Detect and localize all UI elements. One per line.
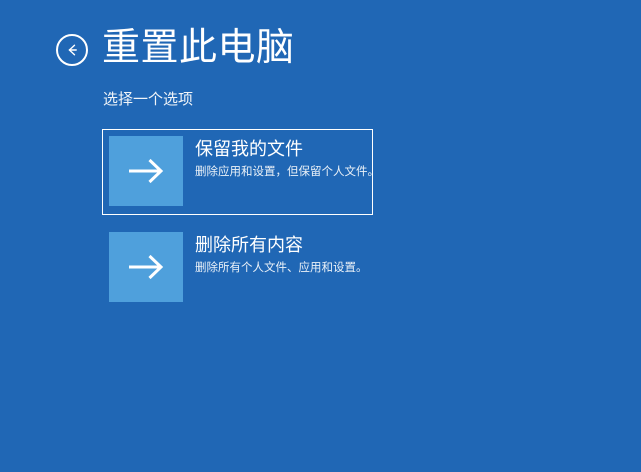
right-arrow-icon: [126, 157, 166, 185]
recovery-screen: 重置此电脑 选择一个选项 保留我的文件 删除应用和设置，但保留个人文件。: [0, 0, 641, 472]
option-tile: [109, 136, 183, 206]
right-arrow-icon: [126, 253, 166, 281]
option-text: 保留我的文件 删除应用和设置，但保留个人文件。: [195, 136, 372, 179]
option-tile: [109, 232, 183, 302]
page-header: 重置此电脑 选择一个选项: [0, 0, 641, 120]
page-title: 重置此电脑: [102, 22, 295, 72]
option-heading: 保留我的文件: [195, 138, 372, 162]
option-description: 删除应用和设置，但保留个人文件。: [195, 163, 372, 179]
option-remove-everything[interactable]: 删除所有内容 删除所有个人文件、应用和设置。: [102, 225, 373, 311]
option-heading: 删除所有内容: [195, 234, 368, 258]
back-arrow-circle-icon: [63, 41, 81, 59]
option-description: 删除所有个人文件、应用和设置。: [195, 259, 368, 275]
option-keep-my-files[interactable]: 保留我的文件 删除应用和设置，但保留个人文件。: [102, 129, 373, 215]
option-text: 删除所有内容 删除所有个人文件、应用和设置。: [195, 232, 368, 275]
back-button[interactable]: [56, 34, 88, 66]
page-subtitle: 选择一个选项: [103, 89, 193, 110]
